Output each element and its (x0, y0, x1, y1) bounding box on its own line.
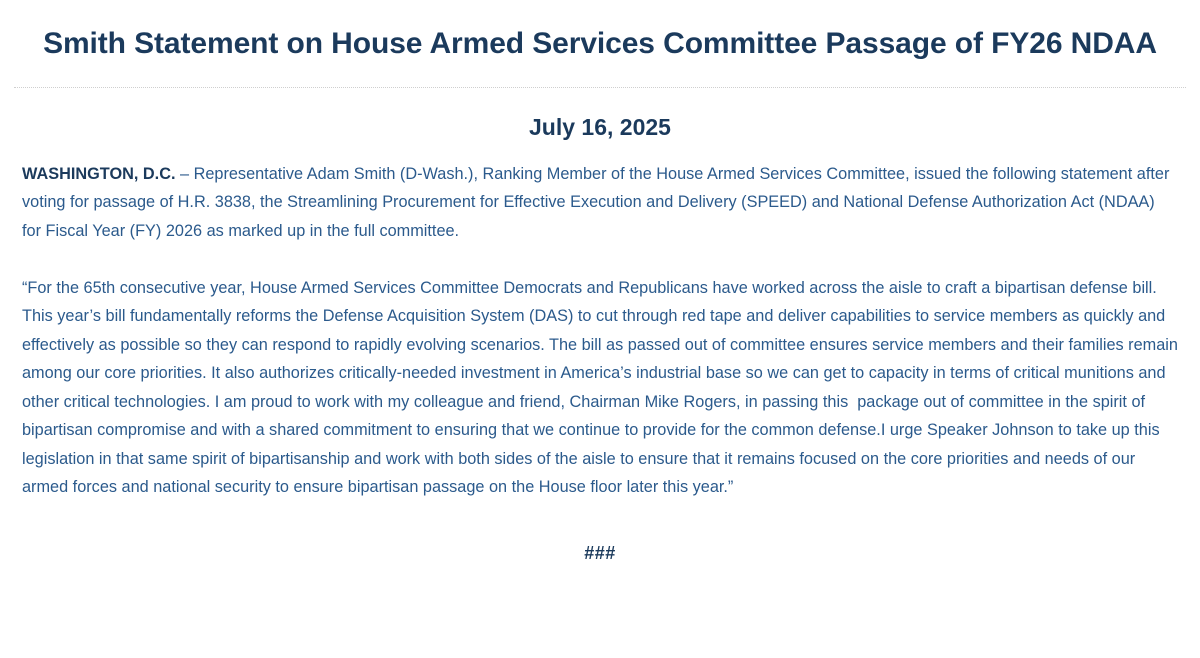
quote-paragraph: “For the 65th consecutive year, House Ar… (22, 274, 1178, 502)
dateline-label: WASHINGTON, D.C. (22, 165, 175, 183)
press-release-page: Smith Statement on House Armed Services … (0, 0, 1200, 658)
lead-paragraph-text: – Representative Adam Smith (D-Wash.), R… (22, 165, 1174, 240)
lead-paragraph: WASHINGTON, D.C. – Representative Adam S… (22, 160, 1178, 246)
page-title: Smith Statement on House Armed Services … (0, 0, 1200, 63)
release-body: WASHINGTON, D.C. – Representative Adam S… (0, 141, 1200, 564)
end-mark: ### (22, 502, 1178, 564)
release-date: July 16, 2025 (0, 88, 1200, 141)
